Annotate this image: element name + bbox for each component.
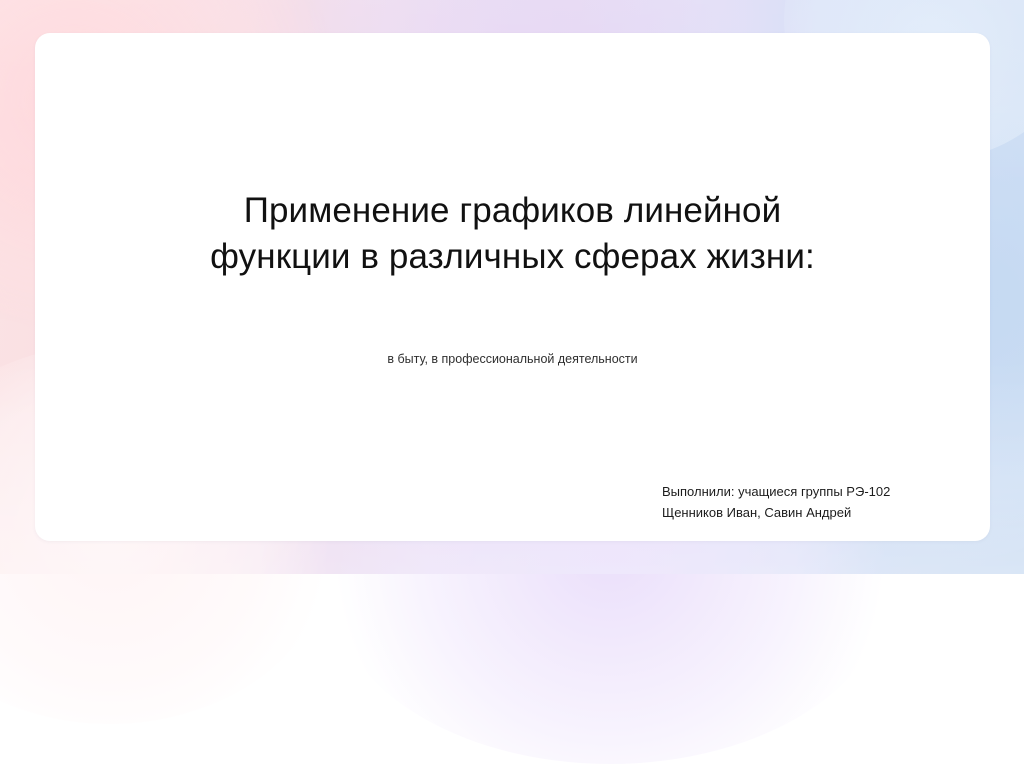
subtitle-block: в быту, в профессиональной деятельности	[35, 351, 990, 369]
slide-subtitle: в быту, в профессиональной деятельности	[75, 351, 950, 369]
presentation-slide: Применение графиков линейной функции в р…	[0, 0, 1024, 574]
slide-title-line-2: функции в различных сферах жизни:	[75, 234, 950, 280]
slide-content-card: Применение графиков линейной функции в р…	[35, 33, 990, 541]
authors-block: Выполнили: учащиеся группы РЭ-102 Щенник…	[662, 481, 890, 524]
title-block: Применение графиков линейной функции в р…	[35, 188, 990, 279]
authors-line-names: Щенников Иван, Савин Андрей	[662, 502, 890, 523]
slide-title: Применение графиков линейной функции в р…	[75, 188, 950, 279]
slide-title-line-1: Применение графиков линейной	[75, 188, 950, 234]
authors-line-group: Выполнили: учащиеся группы РЭ-102	[662, 481, 890, 502]
